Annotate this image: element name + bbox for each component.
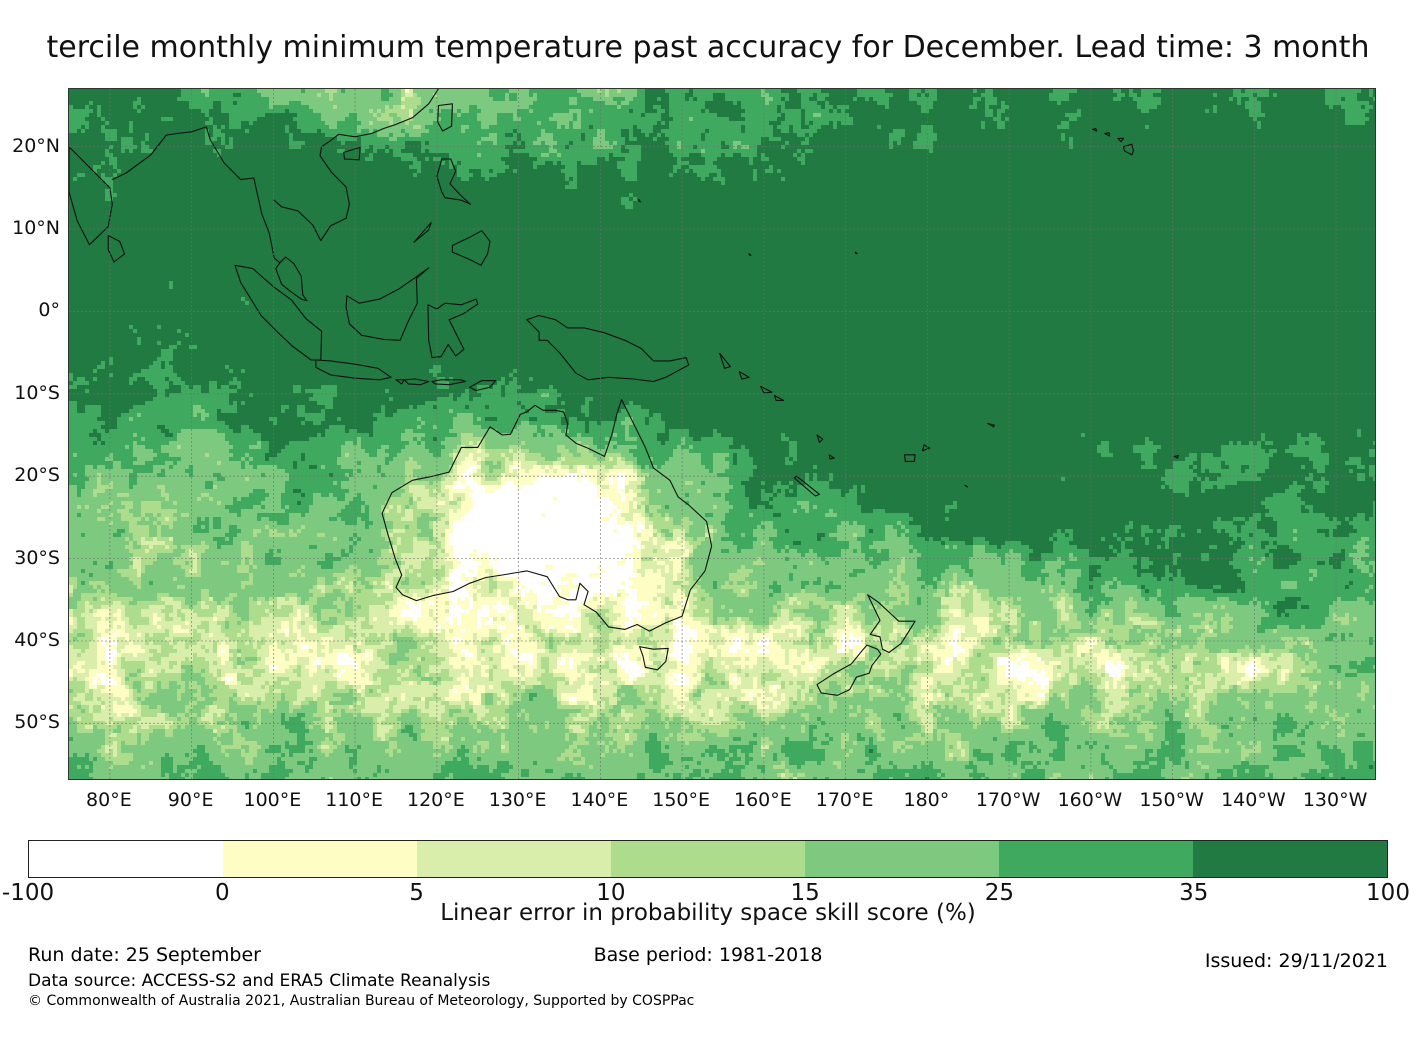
- lat-tick-label: 20°S: [14, 464, 60, 486]
- colorbar-segment: [805, 841, 999, 877]
- lon-tick-label: 140°W: [1221, 789, 1286, 811]
- colorbar-segment: [417, 841, 611, 877]
- lon-tick-label: 130°W: [1303, 789, 1368, 811]
- lat-tick-label: 0°: [38, 299, 60, 321]
- page-title: tercile monthly minimum temperature past…: [47, 25, 1370, 71]
- issued-date-text: Issued: 29/11/2021: [1205, 950, 1388, 972]
- lon-tick-label: 80°E: [86, 789, 132, 811]
- lat-tick-label: 30°S: [14, 547, 60, 569]
- lat-tick-label: 40°S: [14, 629, 60, 651]
- lon-tick-label: 90°E: [168, 789, 214, 811]
- lat-tick-label: 10°S: [14, 382, 60, 404]
- lon-tick-label: 180°: [903, 789, 949, 811]
- lon-tick-label: 140°E: [570, 789, 628, 811]
- base-period-text: Base period: 1981-2018: [0, 944, 1416, 966]
- lon-tick-label: 170°W: [976, 789, 1041, 811]
- colorbar-segment: [29, 841, 223, 877]
- chart-title-bar: tercile monthly minimum temperature past…: [0, 25, 1416, 73]
- colorbar-label: Linear error in probability space skill …: [0, 900, 1416, 926]
- copyright-text: © Commonwealth of Australia 2021, Austra…: [28, 993, 694, 1009]
- colorbar-segment: [999, 841, 1193, 877]
- lon-tick-label: 120°E: [407, 789, 465, 811]
- lon-tick-label: 150°E: [652, 789, 710, 811]
- lat-tick-label: 20°N: [12, 135, 60, 157]
- colorbar-segment: [611, 841, 805, 877]
- lon-tick-label: 170°E: [816, 789, 874, 811]
- lon-tick-label: 160°W: [1058, 789, 1123, 811]
- colorbar-segment: [223, 841, 417, 877]
- lon-tick-label: 160°E: [734, 789, 792, 811]
- colorbar: [28, 840, 1388, 878]
- lon-tick-label: 110°E: [325, 789, 383, 811]
- lon-tick-label: 150°W: [1139, 789, 1204, 811]
- lon-tick-label: 130°E: [489, 789, 547, 811]
- map-plot-area: [68, 88, 1376, 780]
- colorbar-segment: [1193, 841, 1387, 877]
- lat-tick-label: 10°N: [12, 217, 60, 239]
- graticule-grid: [69, 89, 1376, 780]
- lon-tick-label: 100°E: [243, 789, 301, 811]
- footer: Run date: 25 September Base period: 1981…: [0, 944, 1416, 1004]
- lat-tick-label: 50°S: [14, 711, 60, 733]
- data-source-text: Data source: ACCESS-S2 and ERA5 Climate …: [28, 971, 490, 991]
